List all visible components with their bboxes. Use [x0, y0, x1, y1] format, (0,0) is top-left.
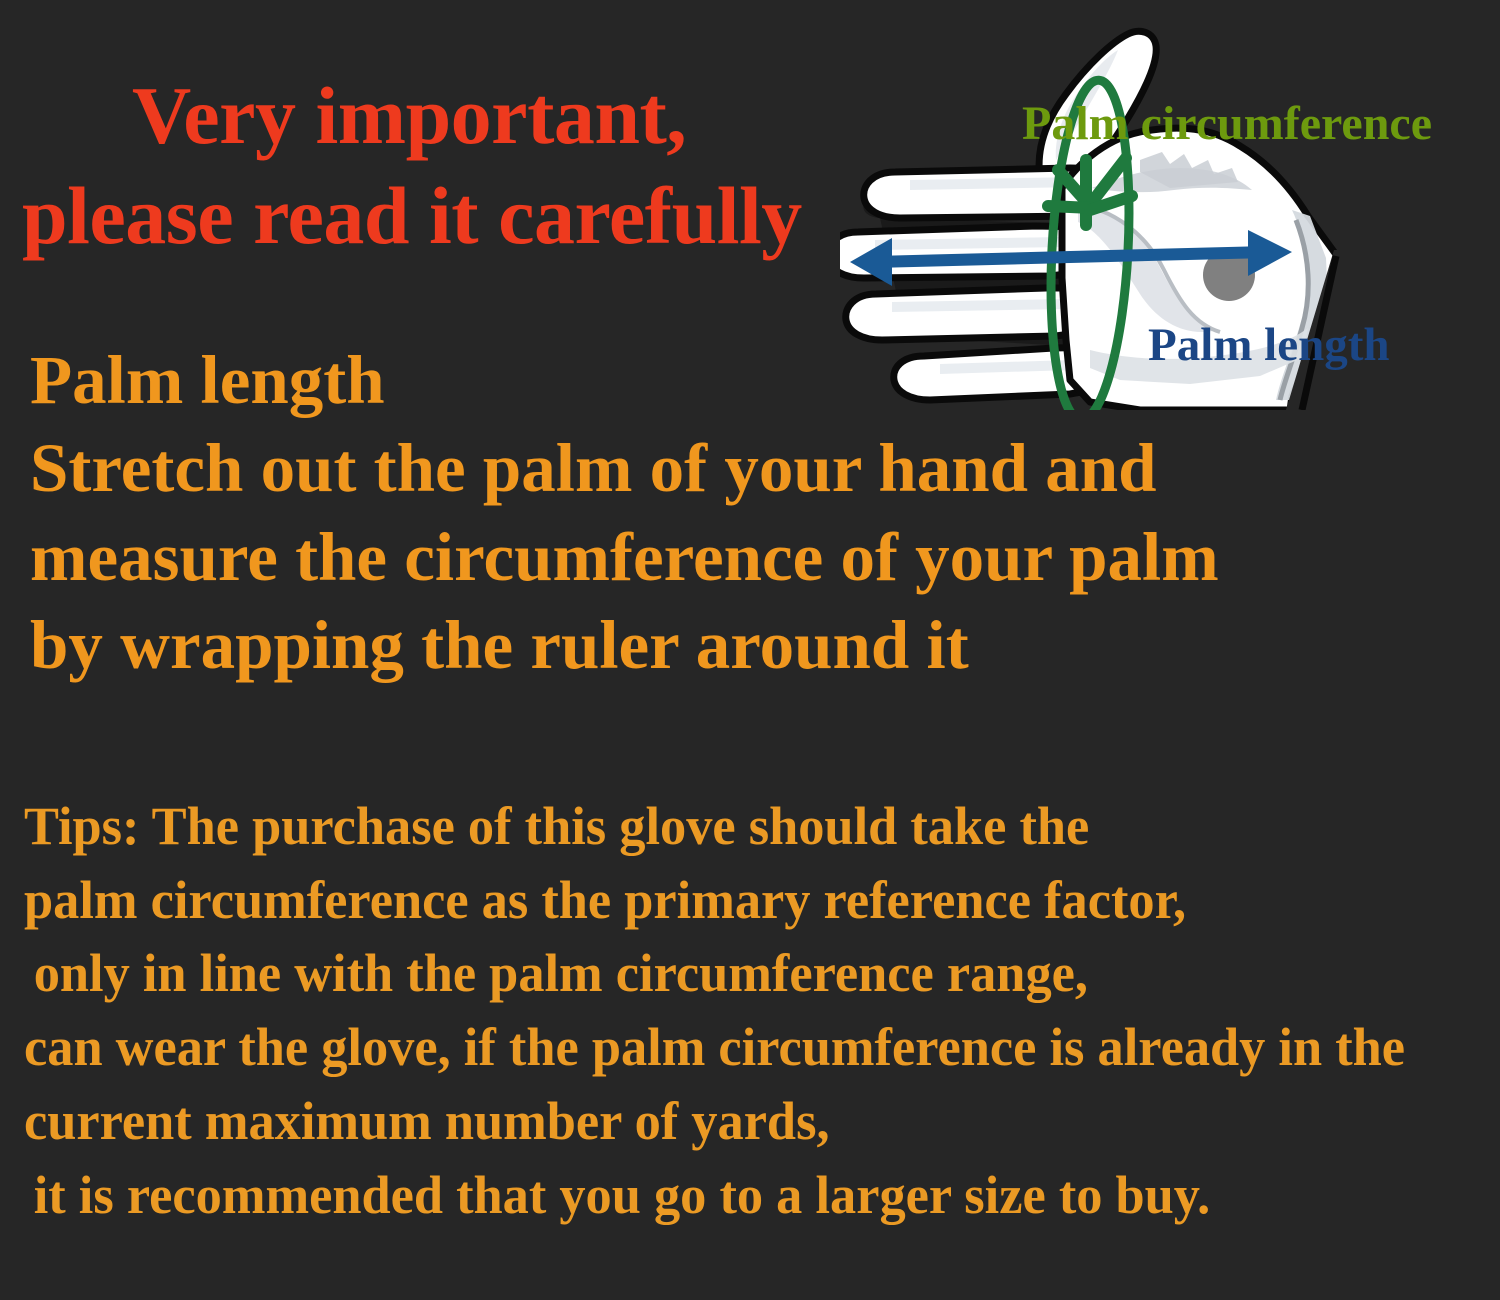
instructions-line-1: Stretch out the palm of your hand and [30, 424, 1380, 512]
tips-line-2: palm circumference as the primary refere… [24, 864, 1450, 938]
headline-line-1: Very important, [0, 66, 900, 166]
label-palm-length: Palm length [1148, 318, 1390, 372]
tips-line-5: current maximum number of yards, [24, 1085, 1450, 1159]
instructions-line-2: measure the circumference of your palm [30, 513, 1380, 601]
tips-line-6: it is recommended that you go to a large… [24, 1159, 1450, 1233]
instructions-line-3: by wrapping the ruler around it [30, 601, 1380, 689]
label-palm-circumference: Palm circumference [1022, 96, 1432, 151]
instruction-graphic: Very important, please read it carefully… [0, 0, 1500, 1300]
tips-block: Tips: The purchase of this glove should … [24, 790, 1450, 1232]
tips-line-1: Tips: The purchase of this glove should … [24, 790, 1450, 864]
tips-line-3: only in line with the palm circumference… [24, 937, 1450, 1011]
headline: Very important, please read it carefully [0, 66, 900, 266]
tips-line-4: can wear the glove, if the palm circumfe… [24, 1011, 1450, 1085]
headline-line-2: please read it carefully [0, 166, 900, 266]
